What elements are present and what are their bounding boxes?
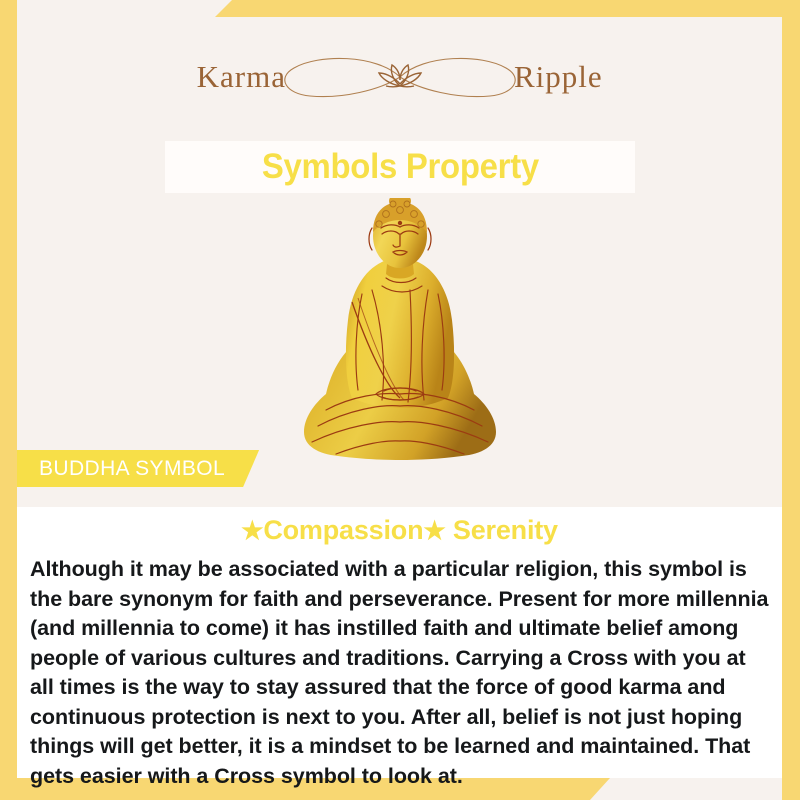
- frame-band-left: [0, 0, 17, 800]
- logo-svg: Karma Ripple: [190, 46, 610, 108]
- content-panel: ★Compassion★ Serenity Although it may be…: [17, 507, 782, 778]
- brand-logo: Karma Ripple: [0, 42, 800, 112]
- frame-band-right: [782, 0, 800, 800]
- status-badge: BUDDHA SYMBOL: [17, 450, 259, 487]
- subtitle-row: ★Compassion★ Serenity: [17, 515, 782, 546]
- star-icon: ★: [423, 517, 445, 545]
- brand-name-left: Karma: [197, 59, 286, 94]
- star-icon: ★: [241, 517, 263, 545]
- frame-band-top: [215, 0, 800, 17]
- page-title: Symbols Property: [261, 147, 538, 187]
- buddha-illustration: [290, 198, 510, 488]
- title-band: Symbols Property: [165, 141, 635, 193]
- seated-golden-buddha-statue-icon: [290, 198, 510, 488]
- subtitle-term-one: Compassion: [263, 515, 423, 545]
- lotus-flower-icon: [379, 65, 421, 87]
- brand-name-right: Ripple: [514, 59, 603, 94]
- poster-canvas: Karma Ripple Symbols Property: [0, 0, 800, 800]
- badge-label: BUDDHA SYMBOL: [39, 457, 225, 481]
- subtitle-term-two: Serenity: [453, 515, 558, 545]
- body-paragraph: Although it may be associated with a par…: [30, 555, 772, 791]
